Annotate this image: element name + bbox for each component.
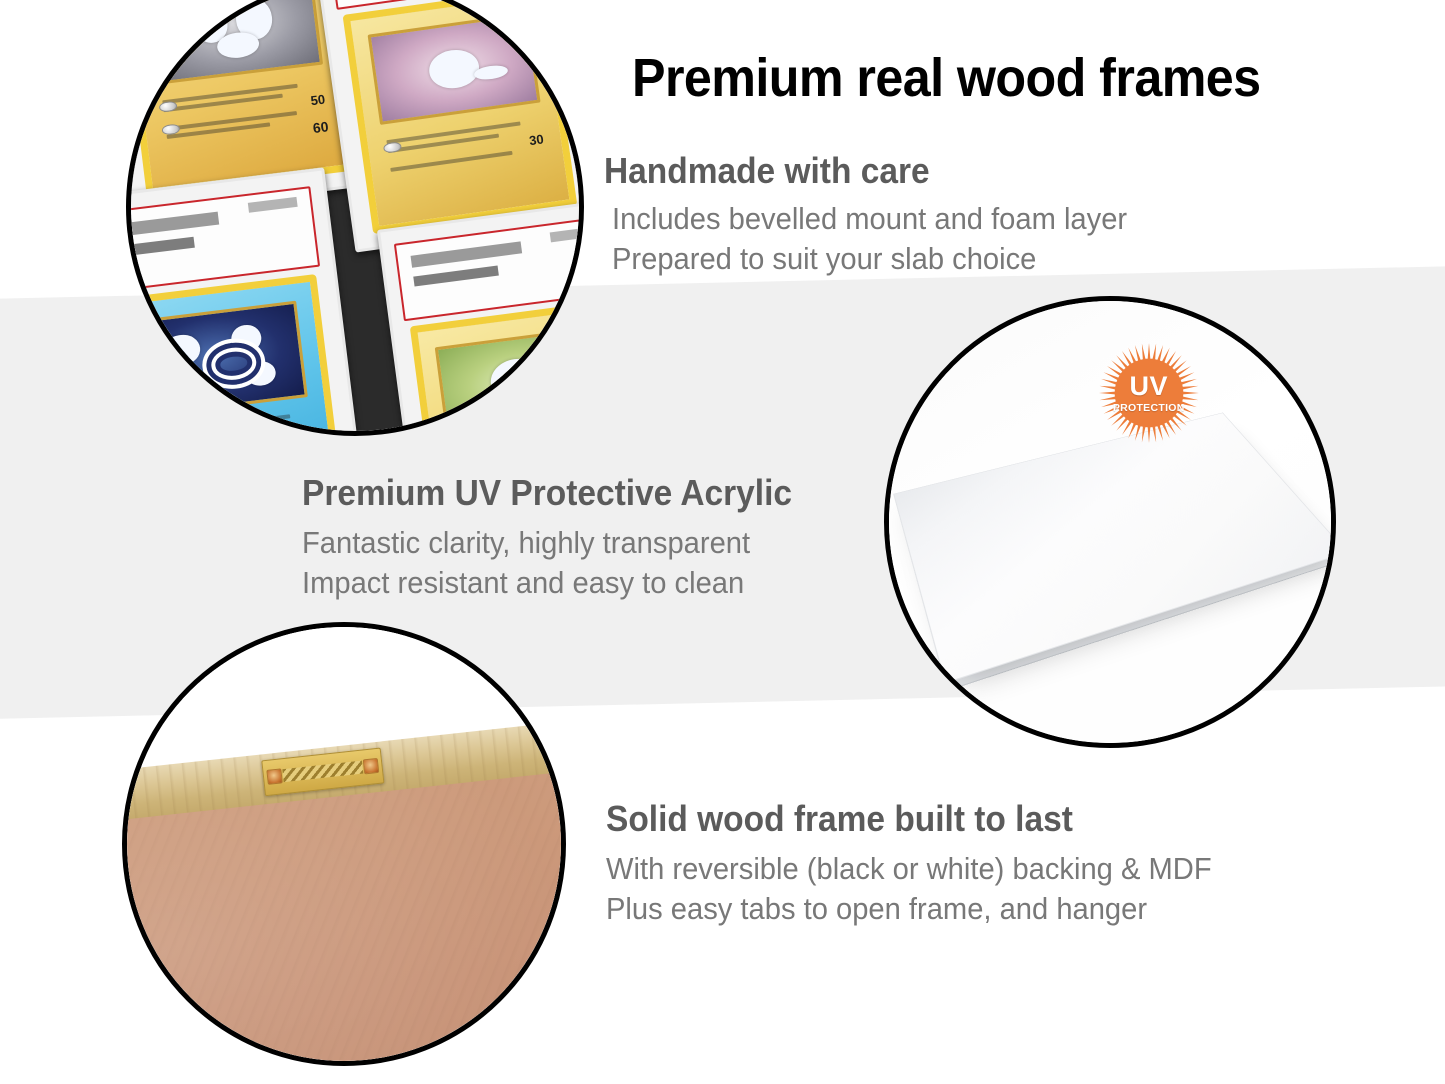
hanger-screw-left	[266, 768, 283, 785]
feature-line: Impact resistant and easy to clean	[302, 563, 797, 603]
framed-cards-photo: 50 60	[131, 0, 579, 431]
feature-line: Fantastic clarity, highly transparent	[302, 523, 797, 563]
grade-box	[550, 226, 579, 242]
feature-block-wood: Solid wood frame built to last With reve…	[606, 800, 1250, 928]
photo-circle-acrylic-sheet: UV PROTECTION	[884, 296, 1336, 748]
frame-rear-scene	[127, 627, 561, 1061]
feature-line: Prepared to suit your slab choice	[612, 239, 1127, 279]
graded-card-slab-poliwrath: 30+ 40	[131, 167, 367, 431]
uv-protection-badge: UV PROTECTION	[1097, 341, 1201, 445]
page-title: Premium real wood frames	[632, 50, 1261, 107]
feature-lines-acrylic: Fantastic clarity, highly transparent Im…	[302, 523, 829, 602]
feature-line: Plus easy tabs to open frame, and hanger	[606, 889, 1212, 929]
grade-box	[248, 197, 298, 213]
photo-circle-wood-frame-back	[122, 622, 566, 1066]
main-title-block: Premium real wood frames	[632, 50, 1308, 107]
grading-label	[394, 216, 579, 322]
sawtooth-teeth	[282, 761, 363, 783]
wood-frame-back-photo	[127, 627, 561, 1061]
feature-block-acrylic: Premium UV Protective Acrylic Fantastic …	[302, 474, 829, 602]
card-artwork	[131, 301, 308, 418]
feature-line: With reversible (black or white) backing…	[606, 849, 1212, 889]
photo-circle-framed-cards: 50 60	[126, 0, 584, 436]
graded-card-slab-raichu: 20 60	[377, 198, 579, 431]
feature-heading-wood: Solid wood frame built to last	[606, 800, 1205, 839]
feature-heading-handmade: Handmade with care	[604, 152, 1121, 191]
feature-line: Includes bevelled mount and foam layer	[612, 199, 1127, 239]
acrylic-sheet-photo: UV PROTECTION	[889, 301, 1331, 743]
card-artwork	[368, 13, 541, 126]
card-artwork	[145, 0, 323, 85]
card-artwork	[435, 326, 579, 431]
feature-lines-handmade: Includes bevelled mount and foam layer P…	[612, 199, 1160, 278]
trading-card-poliwrath: 30+ 40	[131, 274, 345, 431]
feature-block-handmade: Handmade with care Includes bevelled mou…	[604, 152, 1160, 278]
feature-heading-acrylic: Premium UV Protective Acrylic	[302, 474, 792, 513]
trading-card-raichu: 20 60	[410, 300, 579, 431]
black-frame-wall: 50 60	[131, 0, 579, 431]
trading-card: 30	[342, 0, 577, 234]
hanger-screw-right	[363, 758, 380, 775]
feature-lines-wood: With reversible (black or white) backing…	[606, 849, 1250, 928]
infographic-canvas: 50 60	[0, 0, 1445, 1084]
